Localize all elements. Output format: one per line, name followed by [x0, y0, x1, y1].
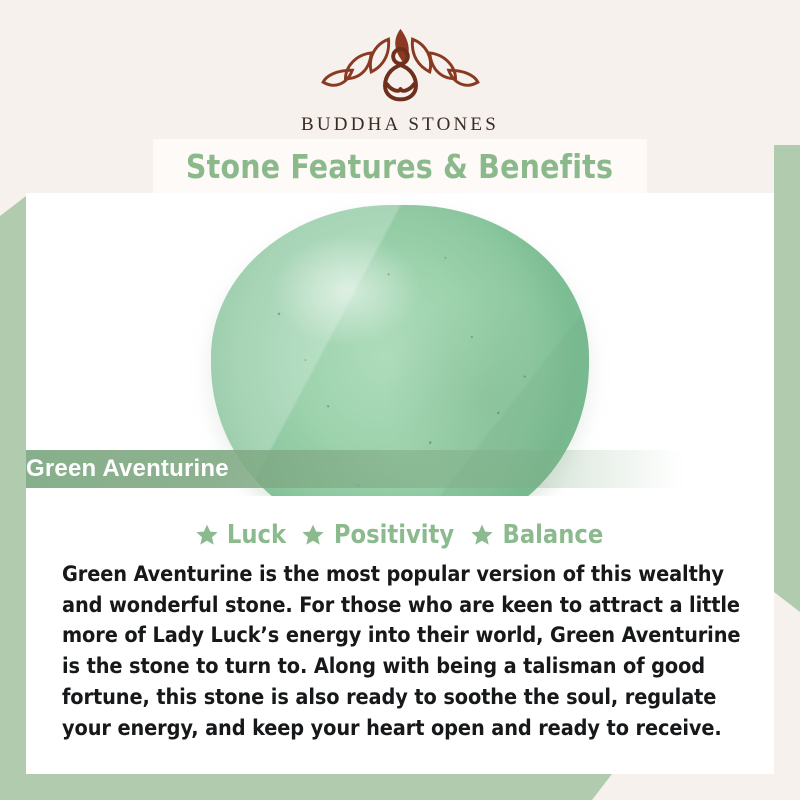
- brand-header: BUDDHA STONES: [0, 0, 800, 145]
- frame-band-bottom: [0, 774, 612, 800]
- benefit-item-balance: Balance: [470, 520, 605, 550]
- page-title-text: Stone Features & Benefits: [186, 147, 613, 186]
- benefit-item-positivity: Positivity: [301, 520, 456, 550]
- star-icon: [301, 523, 325, 547]
- benefit-label-positivity: Positivity: [334, 520, 454, 550]
- stone-name-label: Green Aventurine: [26, 455, 229, 483]
- benefit-label-balance: Balance: [503, 520, 604, 550]
- benefit-item-luck: Luck: [195, 520, 287, 550]
- page-title: Stone Features & Benefits: [153, 139, 647, 193]
- benefit-label-luck: Luck: [227, 520, 286, 550]
- star-icon: [470, 523, 494, 547]
- stone-description: Green Aventurine is the most popular ver…: [36, 560, 764, 744]
- benefits-row: Luck Positivity Balance: [36, 520, 764, 550]
- brand-name: BUDDHA STONES: [301, 114, 499, 136]
- frame-band-left: [0, 196, 26, 800]
- stone-name-bar: Green Aventurine: [26, 450, 774, 488]
- lotus-meditation-logo-icon: [313, 22, 488, 108]
- content-panel: Luck Positivity Balance Green Aventurine…: [26, 496, 774, 774]
- star-icon: [195, 523, 219, 547]
